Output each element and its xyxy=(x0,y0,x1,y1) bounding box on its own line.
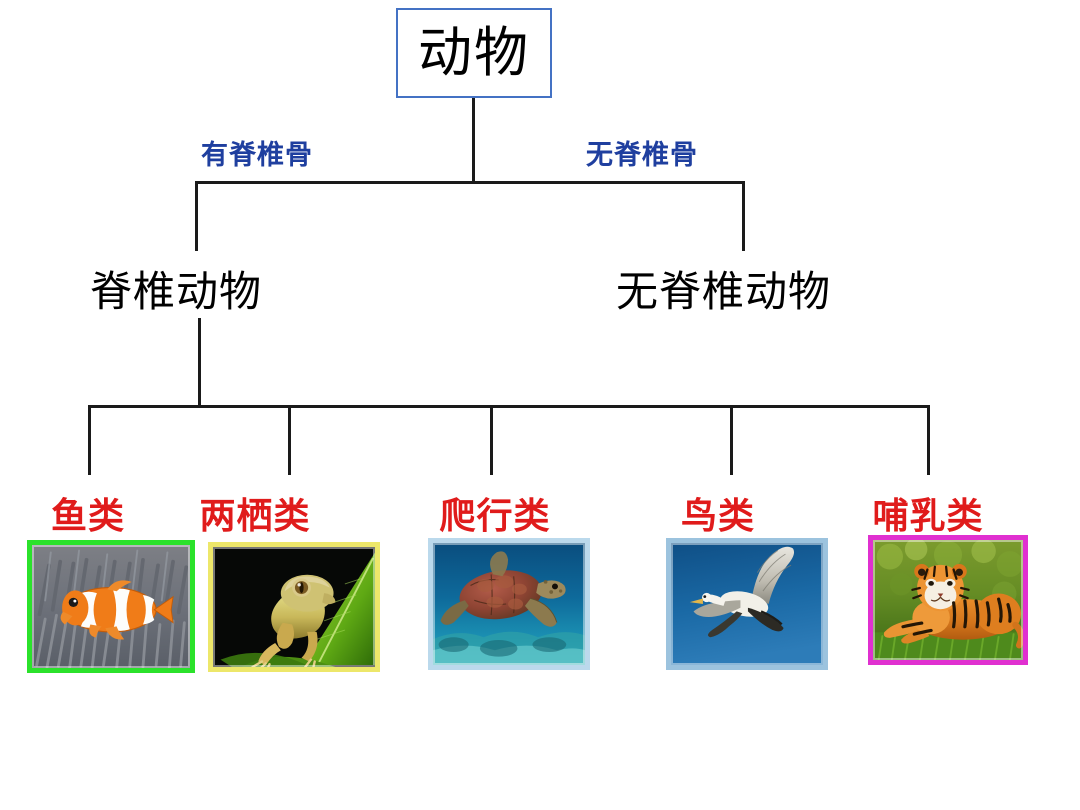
connector-drop-amphibian xyxy=(288,405,291,475)
edge-label-has-vertebrae: 有脊椎骨 xyxy=(201,133,313,172)
photo-frame-bird[interactable] xyxy=(666,538,828,670)
tree-frog-photo xyxy=(213,547,375,667)
level2-node-invertebrates[interactable]: 无脊椎动物 xyxy=(616,258,831,319)
connector-drop-invertebrate xyxy=(742,181,745,251)
connector-drop-bird xyxy=(730,405,733,475)
connector-leaf-bus xyxy=(88,405,930,408)
root-node-animal[interactable]: 动物 xyxy=(396,8,552,98)
photo-frame-reptile[interactable] xyxy=(428,538,590,670)
connector-drop-vertebrate xyxy=(195,181,198,251)
root-node-label: 动物 xyxy=(418,26,530,80)
connector-drop-fish xyxy=(88,405,91,475)
edge-label-no-vertebrae: 无脊椎骨 xyxy=(586,133,698,172)
flying-bird-photo xyxy=(671,543,823,665)
connector-level1-bus xyxy=(195,181,745,184)
leaf-label-fish[interactable]: 鱼类 xyxy=(40,487,136,539)
tiger-photo xyxy=(873,540,1023,660)
level2-node-vertebrates[interactable]: 脊椎动物 xyxy=(90,258,262,319)
clownfish-photo xyxy=(32,545,190,668)
leaf-label-mammal[interactable]: 哺乳类 xyxy=(850,487,1006,539)
photo-frame-mammal[interactable] xyxy=(868,535,1028,665)
connector-vertebrates-stem xyxy=(198,318,201,407)
photo-frame-amphibian[interactable] xyxy=(208,542,380,672)
diagram-canvas: 动物 有脊椎骨 无脊椎骨 脊椎动物 无脊椎动物 鱼类 两栖类 爬行类 鸟类 哺乳… xyxy=(0,0,1080,810)
connector-root-stem xyxy=(472,98,475,184)
connector-drop-reptile xyxy=(490,405,493,475)
leaf-label-amphibian[interactable]: 两栖类 xyxy=(180,487,330,539)
photo-frame-fish[interactable] xyxy=(27,540,195,673)
leaf-label-bird[interactable]: 鸟类 xyxy=(668,487,768,539)
leaf-label-reptile[interactable]: 爬行类 xyxy=(420,487,570,539)
connector-drop-mammal xyxy=(927,405,930,475)
sea-turtle-photo xyxy=(433,543,585,665)
